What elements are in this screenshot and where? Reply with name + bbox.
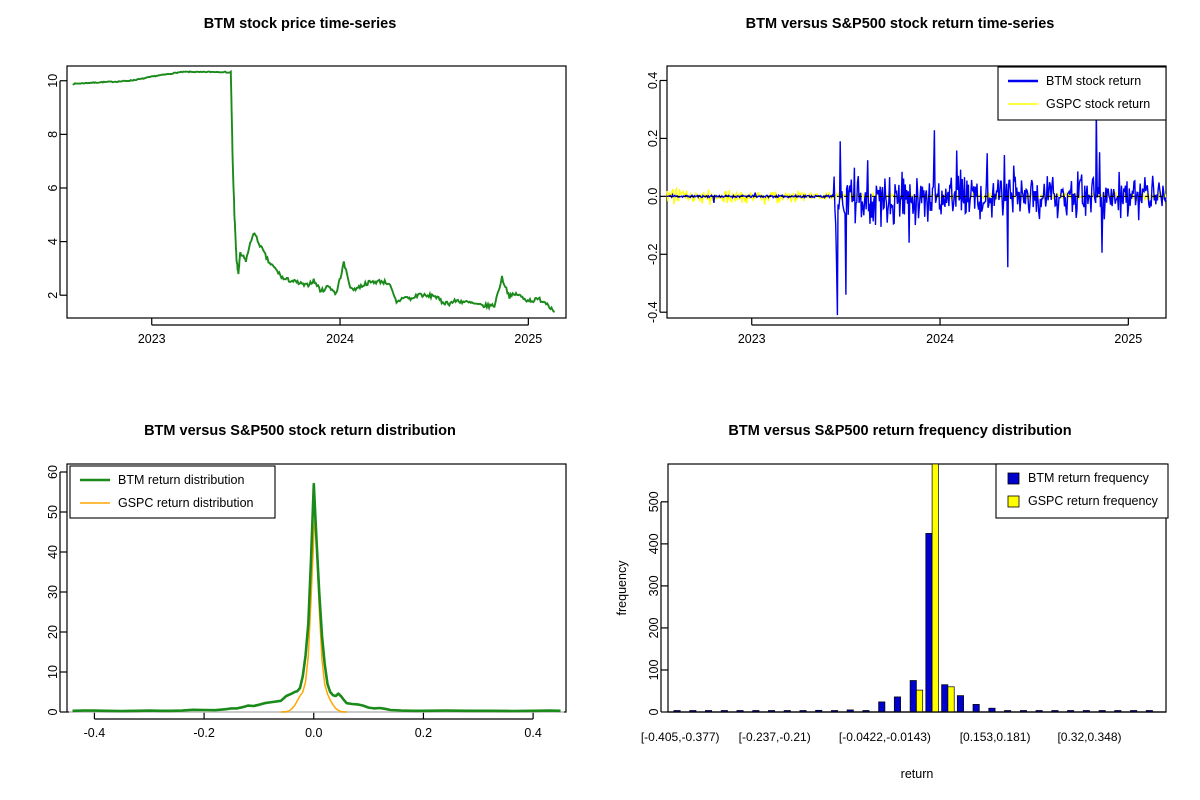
bin-range-label: [-0.0422,-0.0143) — [839, 730, 931, 744]
legend-label: BTM stock return — [1046, 74, 1141, 88]
bar-gspc — [948, 687, 954, 712]
return-timeseries-svg: BTM versus S&P500 stock return time-seri… — [600, 0, 1200, 400]
y-frequency-tick-label: 300 — [647, 575, 661, 596]
y-price-tick-label: 8 — [46, 131, 60, 138]
y-density-tick-label: 10 — [46, 665, 60, 679]
bar-btm — [879, 702, 885, 712]
bin-range-label: [0.153,0.181) — [960, 730, 1031, 744]
plot-area-tl: 246810 202320242025 — [46, 66, 566, 346]
legend-label: BTM return frequency — [1028, 471, 1150, 485]
y-axis-bl: 0102030405060 — [46, 465, 67, 715]
x-density-tick-label: 0.4 — [524, 726, 541, 740]
legend-label: GSPC return frequency — [1028, 494, 1159, 508]
y-axis-tr: -0.4-0.20.00.20.4 — [646, 72, 667, 323]
gspc-density-polyline — [281, 516, 347, 712]
y-price-tick-label: 2 — [46, 292, 60, 299]
bin-range-label: [0.32,0.348) — [1057, 730, 1121, 744]
x-density-tick-label: -0.4 — [84, 726, 106, 740]
y-axis-tl: 246810 — [46, 74, 67, 299]
y-price-tick-label: 4 — [46, 238, 60, 245]
x-density-tick-label: -0.2 — [193, 726, 215, 740]
y-density-tick-label: 30 — [46, 585, 60, 599]
plot-area-tr: -0.4-0.20.00.20.4 202320242025 BTM stock… — [646, 66, 1166, 346]
return-distribution-svg: BTM versus S&P500 stock return distribut… — [0, 400, 600, 800]
y-frequency-tick-label: 200 — [647, 617, 661, 638]
btm-price-svg: BTM stock price time-series 246810 20232… — [0, 0, 600, 400]
panel-title: BTM stock price time-series — [204, 16, 397, 32]
y-density-tick-label: 20 — [46, 625, 60, 639]
legend-label: GSPC stock return — [1046, 97, 1150, 111]
legend-label: GSPC return distribution — [118, 496, 254, 510]
bar-btm — [942, 685, 948, 712]
bar-btm — [957, 696, 963, 712]
panel-return-timeseries: BTM versus S&P500 stock return time-seri… — [600, 0, 1200, 400]
x-return-tick-label: 2023 — [738, 332, 766, 346]
y-axis-title: frequency — [615, 560, 629, 616]
bar-btm — [926, 533, 932, 712]
y-axis-br: 0100200300400500 — [647, 491, 668, 715]
y-density-tick-label: 50 — [46, 505, 60, 519]
bar-btm — [894, 697, 900, 712]
y-frequency-tick-label: 100 — [647, 659, 661, 680]
y-density-tick-label: 40 — [46, 545, 60, 559]
x-axis-bin-labels: [-0.405,-0.377)[-0.237,-0.21)[-0.0422,-0… — [641, 730, 1122, 744]
x-return-tick-label: 2025 — [1114, 332, 1142, 346]
x-return-tick-label: 2024 — [926, 332, 954, 346]
return-frequency-svg: BTM versus S&P500 return frequency distr… — [600, 400, 1200, 800]
legend-label: BTM return distribution — [118, 473, 244, 487]
plot-area-bl: 0102030405060 -0.4-0.20.00.20.4 BTM retu… — [46, 464, 566, 740]
x-axis-tl: 202320242025 — [138, 318, 542, 346]
legend-return-distribution[interactable]: BTM return distributionGSPC return distr… — [70, 466, 275, 518]
bar-gspc — [916, 690, 922, 712]
y-return-tick-label: 0.2 — [646, 130, 660, 147]
legend-return-frequency[interactable]: BTM return frequencyGSPC return frequenc… — [996, 464, 1168, 518]
panel-title: BTM versus S&P500 stock return distribut… — [144, 423, 456, 439]
bar-gspc — [932, 464, 938, 712]
y-return-tick-label: -0.2 — [646, 243, 660, 265]
panel-return-frequency: BTM versus S&P500 return frequency distr… — [600, 400, 1200, 800]
bar-btm — [973, 704, 979, 712]
x-axis-bl: -0.4-0.20.00.20.4 — [84, 712, 542, 740]
x-density-tick-label: 0.0 — [305, 726, 322, 740]
bin-range-label: [-0.405,-0.377) — [641, 730, 720, 744]
legend-swatch — [1008, 473, 1019, 484]
x-density-tick-label: 0.2 — [415, 726, 432, 740]
panel-return-distribution: BTM versus S&P500 stock return distribut… — [0, 400, 600, 800]
panel-btm-price-timeseries: BTM stock price time-series 246810 20232… — [0, 0, 600, 400]
panel-title: BTM versus S&P500 stock return time-seri… — [746, 16, 1055, 32]
plot-area-br: 0100200300400500 [-0.405,-0.377)[-0.237,… — [615, 464, 1168, 781]
y-return-tick-label: 0.0 — [646, 188, 660, 205]
bin-range-label: [-0.237,-0.21) — [739, 730, 811, 744]
y-price-tick-label: 10 — [46, 74, 60, 88]
price-line — [73, 71, 555, 311]
y-density-tick-label: 60 — [46, 465, 60, 479]
x-axis-tr: 202320242025 — [738, 318, 1142, 346]
y-frequency-tick-label: 0 — [647, 708, 661, 715]
y-return-tick-label: -0.4 — [646, 301, 660, 323]
btm-price-polyline — [73, 71, 555, 311]
y-return-tick-label: 0.4 — [646, 72, 660, 89]
figure-canvas: BTM stock price time-series 246810 20232… — [0, 0, 1200, 800]
y-frequency-tick-label: 500 — [647, 491, 661, 512]
y-price-tick-label: 6 — [46, 184, 60, 191]
legend-swatch — [1008, 496, 1019, 507]
btm-return-polyline — [667, 109, 1166, 315]
return-lines — [667, 109, 1166, 315]
y-density-tick-label: 0 — [46, 708, 60, 715]
y-frequency-tick-label: 400 — [647, 533, 661, 554]
x-price-tick-label: 2025 — [514, 332, 542, 346]
panel-title: BTM versus S&P500 return frequency distr… — [728, 423, 1071, 439]
x-price-tick-label: 2024 — [326, 332, 354, 346]
x-price-tick-label: 2023 — [138, 332, 166, 346]
legend-return-timeseries[interactable]: BTM stock returnGSPC stock return — [998, 67, 1166, 120]
bar-btm — [910, 681, 916, 713]
x-axis-title: return — [901, 767, 934, 781]
